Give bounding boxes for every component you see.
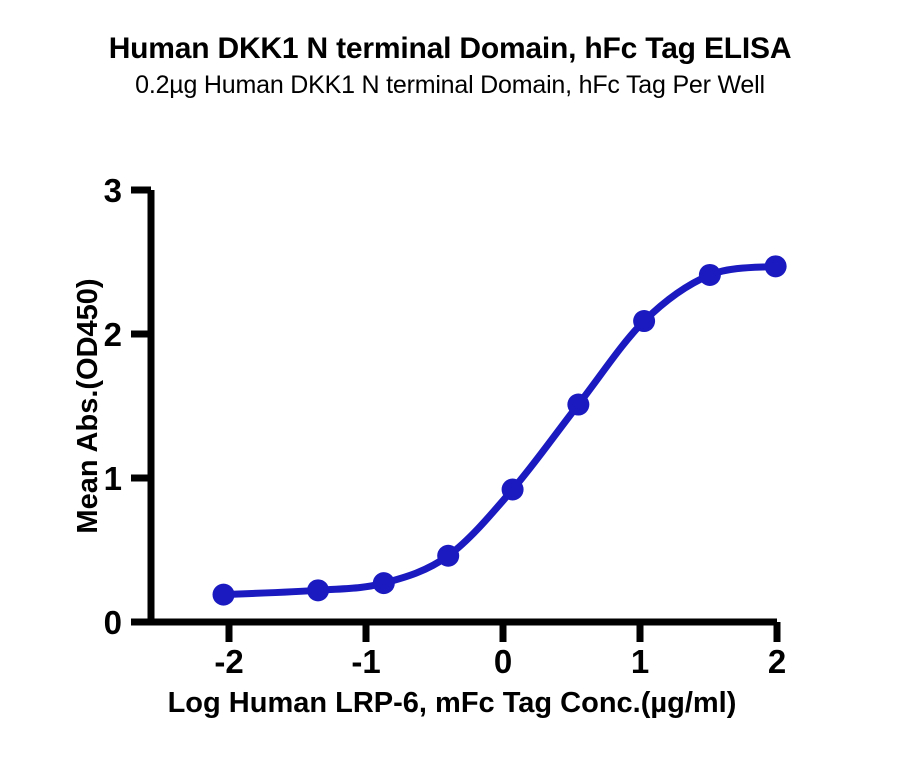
x-tick-label: -2 — [214, 643, 243, 680]
x-axis-tick-labels: -2-1012 — [214, 643, 786, 680]
elisa-chart-figure: Human DKK1 N terminal Domain, hFc Tag EL… — [0, 0, 900, 762]
data-point-marker — [213, 584, 235, 606]
data-point-marker — [373, 572, 395, 594]
data-point-marker — [502, 479, 524, 501]
y-axis-title: Mean Abs.(OD450) — [72, 278, 104, 533]
y-tick-label: 0 — [104, 604, 122, 641]
y-axis-tick-labels: 0123 — [104, 172, 122, 641]
data-point-marker — [437, 545, 459, 567]
y-tick-label: 2 — [104, 316, 122, 353]
data-point-marker — [307, 579, 329, 601]
data-point-marker — [567, 394, 589, 416]
y-tick-label: 3 — [104, 172, 122, 209]
data-point-marker — [633, 310, 655, 332]
axes — [148, 190, 777, 622]
x-tick-label: 1 — [631, 643, 649, 680]
series-markers — [213, 255, 787, 605]
data-point-marker — [765, 255, 787, 277]
x-tick-label: 0 — [494, 643, 512, 680]
x-tick-label: 2 — [768, 643, 786, 680]
x-tick-label: -1 — [351, 643, 380, 680]
x-axis-title: Log Human LRP-6, mFc Tag Conc.(µg/ml) — [168, 687, 737, 719]
y-tick-label: 1 — [104, 460, 122, 497]
data-point-marker — [699, 264, 721, 286]
plot-area: 0123 -2-1012 Log Human LRP-6, mFc Tag Co… — [0, 0, 900, 762]
series-curve — [224, 266, 776, 594]
